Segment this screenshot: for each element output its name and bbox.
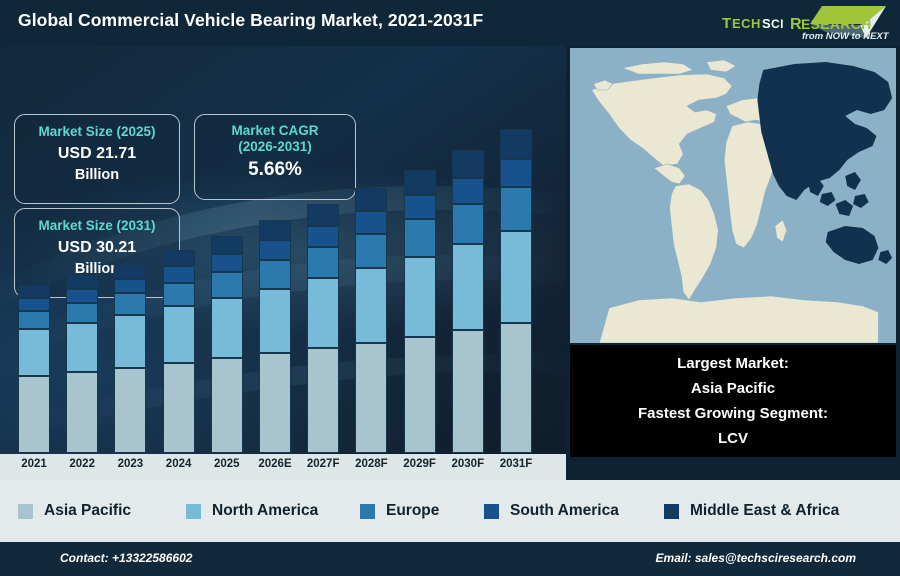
x-axis-label: 2022	[56, 458, 108, 470]
bar-segment-europe	[163, 283, 195, 307]
bar-segment-south-america	[18, 298, 50, 310]
bar-segment-asia-pacific	[163, 363, 195, 453]
bar-segment-asia-pacific	[211, 358, 243, 453]
bar-segment-south-america	[404, 195, 436, 219]
bar-segment-north-america	[355, 268, 387, 343]
infographic-root: Global Commercial Vehicle Bearing Market…	[0, 0, 900, 576]
stacked-bar	[18, 285, 50, 453]
bar-segment-south-america	[259, 240, 291, 259]
chart-panel: Market Size (2025) USD 21.71 Billion Mar…	[0, 46, 566, 480]
fastest-segment-value: LCV	[718, 426, 748, 451]
stacked-bar	[66, 275, 98, 453]
bar-segment-south-america	[211, 254, 243, 272]
world-map-panel	[566, 46, 900, 343]
bar-segment-middle-east-africa	[211, 236, 243, 254]
x-axis-label: 2030F	[442, 458, 494, 470]
legend-item-north-america: North America	[186, 502, 318, 520]
legend-item-middle-east-africa: Middle East & Africa	[664, 502, 839, 520]
bar-segment-north-america	[259, 289, 291, 354]
bar-segment-north-america	[66, 323, 98, 373]
bar-segment-europe	[307, 247, 339, 278]
bar-segment-middle-east-africa	[355, 188, 387, 211]
svg-text:CI: CI	[771, 17, 784, 31]
market-highlights-box: Largest Market: Asia Pacific Fastest Gro…	[570, 345, 896, 457]
stacked-bar	[404, 170, 436, 453]
bar-segment-north-america	[404, 257, 436, 337]
stacked-bar	[452, 150, 484, 453]
legend-swatch	[18, 504, 33, 519]
x-axis-label: 2021	[8, 458, 60, 470]
x-axis-label: 2025	[201, 458, 253, 470]
svg-text:T: T	[722, 15, 732, 32]
svg-text:from NOW to NEXT: from NOW to NEXT	[802, 31, 890, 42]
bar-segment-south-america	[355, 211, 387, 234]
svg-text:ECH: ECH	[732, 16, 761, 31]
fastest-segment-label: Fastest Growing Segment:	[638, 401, 828, 426]
bar-segment-north-america	[307, 278, 339, 348]
bar-segment-asia-pacific	[114, 368, 146, 453]
bar-segment-middle-east-africa	[259, 220, 291, 240]
stacked-bar	[163, 250, 195, 453]
bar-segment-middle-east-africa	[500, 129, 532, 159]
legend-item-europe: Europe	[360, 502, 439, 520]
bar-segment-north-america	[211, 298, 243, 359]
bar-segment-europe	[211, 272, 243, 298]
bar-segment-europe	[355, 234, 387, 268]
bar-segment-north-america	[163, 306, 195, 363]
techsci-research-logo: T ECH S CI R ESEARCH from NOW to NEXT	[714, 2, 894, 44]
x-axis-label: 2031F	[490, 458, 542, 470]
bar-segment-north-america	[452, 244, 484, 330]
bar-segment-asia-pacific	[307, 348, 339, 453]
x-axis-label: 2029F	[394, 458, 446, 470]
footer-email: Email: sales@techsciresearch.com	[656, 551, 856, 565]
stacked-bar	[114, 264, 146, 453]
legend-label: Asia Pacific	[44, 502, 131, 520]
header-bar: Global Commercial Vehicle Bearing Market…	[0, 0, 900, 46]
bar-segment-south-america	[66, 289, 98, 303]
chart-legend: Asia PacificNorth AmericaEuropeSouth Ame…	[0, 480, 900, 542]
bar-segment-middle-east-africa	[114, 264, 146, 279]
bar-segment-asia-pacific	[18, 376, 50, 453]
x-axis-label: 2024	[153, 458, 205, 470]
svg-text:ESEARCH: ESEARCH	[801, 16, 872, 32]
footer-bar: Contact: +13322586602 Email: sales@techs…	[0, 542, 900, 576]
legend-label: North America	[212, 502, 318, 520]
legend-label: Middle East & Africa	[690, 502, 839, 520]
svg-text:S: S	[762, 16, 771, 31]
stacked-bar	[307, 204, 339, 453]
bar-segment-asia-pacific	[66, 372, 98, 453]
stacked-bar	[355, 188, 387, 453]
legend-item-south-america: South America	[484, 502, 619, 520]
bar-segment-europe	[259, 260, 291, 289]
bar-segment-north-america	[18, 329, 50, 376]
bar-segment-south-america	[114, 279, 146, 294]
bar-segment-north-america	[114, 315, 146, 368]
legend-label: Europe	[386, 502, 439, 520]
bar-segment-south-america	[163, 266, 195, 282]
world-map	[570, 48, 896, 343]
bar-segment-south-america	[452, 178, 484, 204]
bar-segment-asia-pacific	[355, 343, 387, 453]
bar-segment-europe	[66, 303, 98, 323]
bar-segment-europe	[114, 293, 146, 315]
bar-segment-middle-east-africa	[163, 250, 195, 267]
bar-segment-middle-east-africa	[66, 275, 98, 289]
stacked-bar	[500, 129, 532, 453]
legend-swatch	[186, 504, 201, 519]
footer-contact: Contact: +13322586602	[60, 551, 192, 565]
bar-segment-europe	[452, 204, 484, 245]
legend-label: South America	[510, 502, 619, 520]
bar-segment-middle-east-africa	[18, 285, 50, 298]
page-title: Global Commercial Vehicle Bearing Market…	[18, 10, 483, 31]
bar-segment-europe	[404, 219, 436, 256]
bar-segment-asia-pacific	[259, 353, 291, 453]
x-axis-label: 2027F	[297, 458, 349, 470]
x-axis-label: 2026E	[249, 458, 301, 470]
legend-swatch	[664, 504, 679, 519]
bar-segment-europe	[18, 311, 50, 329]
bar-segment-north-america	[500, 231, 532, 323]
bar-segment-asia-pacific	[404, 337, 436, 453]
largest-market-value: Asia Pacific	[691, 376, 775, 401]
x-axis-labels: 202120222023202420252026E2027F2028F2029F…	[0, 454, 566, 480]
bar-segment-middle-east-africa	[307, 204, 339, 226]
bar-segment-middle-east-africa	[452, 150, 484, 178]
bar-segment-middle-east-africa	[404, 170, 436, 195]
stacked-bar	[211, 236, 243, 453]
legend-item-asia-pacific: Asia Pacific	[18, 502, 131, 520]
bar-segment-asia-pacific	[452, 330, 484, 453]
largest-market-label: Largest Market:	[677, 351, 789, 376]
bar-segment-south-america	[307, 226, 339, 247]
bar-segment-europe	[500, 187, 532, 231]
stacked-bar-chart	[0, 46, 566, 480]
bar-segment-south-america	[500, 159, 532, 187]
x-axis-label: 2028F	[345, 458, 397, 470]
x-axis-label: 2023	[104, 458, 156, 470]
bar-segment-asia-pacific	[500, 323, 532, 453]
stacked-bar	[259, 220, 291, 453]
legend-swatch	[484, 504, 499, 519]
legend-swatch	[360, 504, 375, 519]
